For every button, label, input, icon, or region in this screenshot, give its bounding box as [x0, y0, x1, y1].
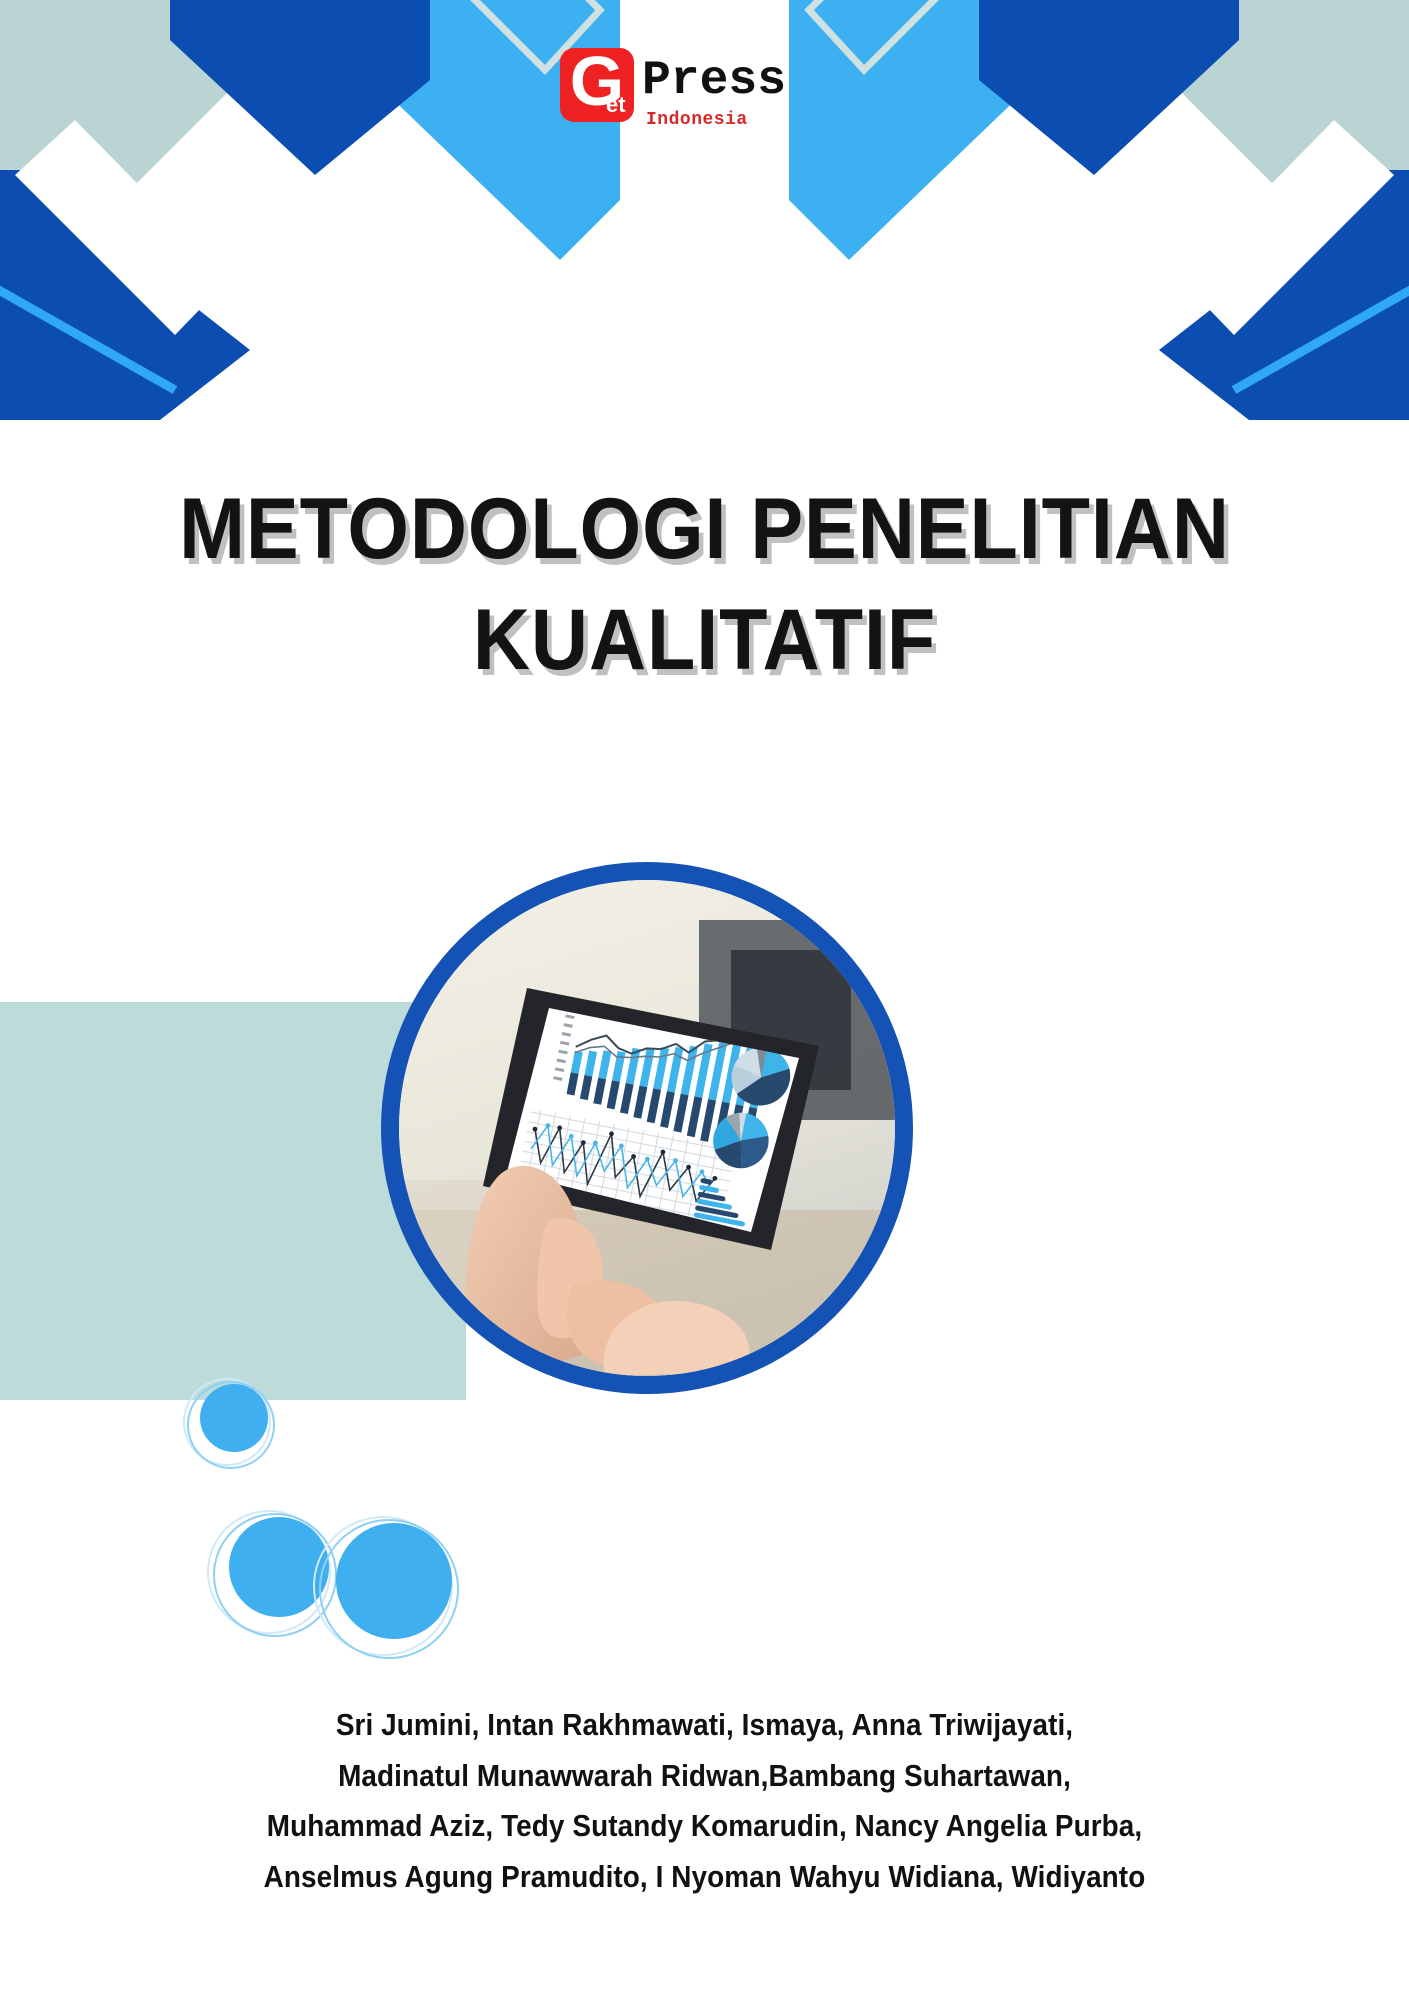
- book-title: METODOLOGI PENELITIAN KUALITATIF: [0, 485, 1409, 684]
- title-line-2: KUALITATIF: [56, 596, 1352, 685]
- corner-decoration-right: [789, 0, 1409, 420]
- cover-photo-ring: [381, 862, 913, 1394]
- decor-circle-small: [192, 1380, 276, 1464]
- corner-decoration-left: [0, 0, 620, 420]
- title-line-1: METODOLOGI PENELITIAN: [56, 485, 1352, 574]
- logo-letters-et: et: [606, 92, 626, 118]
- author-line: Madinatul Munawwarah Ridwan,Bambang Suha…: [70, 1751, 1338, 1802]
- logo-word-press: Press: [642, 54, 786, 108]
- author-line: Sri Jumini, Intan Rakhmawati, Ismaya, An…: [70, 1700, 1338, 1751]
- publisher-logo: G et Press Indonesia: [560, 48, 830, 144]
- logo-tagline-indonesia: Indonesia: [646, 110, 748, 130]
- author-list: Sri Jumini, Intan Rakhmawati, Ismaya, An…: [0, 1700, 1409, 1902]
- book-cover: G et Press Indonesia METODOLOGI PENELITI…: [0, 0, 1409, 2000]
- decor-circle-large: [326, 1518, 462, 1654]
- author-line: Muhammad Aziz, Tedy Sutandy Komarudin, N…: [70, 1801, 1338, 1852]
- cover-photo: [399, 880, 895, 1376]
- author-line: Anselmus Agung Pramudito, I Nyoman Wahyu…: [70, 1852, 1338, 1903]
